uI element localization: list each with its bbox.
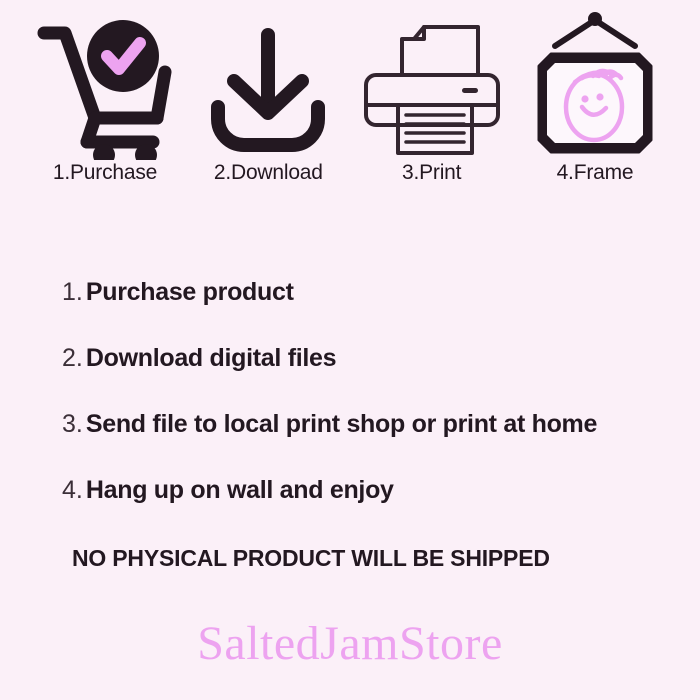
step-download: 2.Download [193, 14, 343, 183]
step-download-label: 2.Download [214, 162, 323, 183]
steps-strip: 1.Purchase 2.Download [0, 14, 700, 194]
list-item-number: 1. [62, 278, 83, 307]
step-frame-label: 4.Frame [557, 162, 634, 183]
frame-wire-left [555, 20, 595, 46]
list-item: 2. Download digital files [62, 344, 682, 410]
list-item-text: Send file to local print shop or print a… [86, 410, 597, 439]
list-item-number: 4. [62, 476, 83, 505]
shopping-cart-check-icon [35, 14, 175, 160]
smiley-eye-right [596, 93, 603, 100]
printer-body [366, 75, 498, 125]
smiley-eye-left [581, 95, 588, 102]
step-purchase-label: 1.Purchase [53, 162, 157, 183]
step-purchase: 1.Purchase [30, 14, 180, 183]
shop-brand-name: SaltedJamStore [0, 620, 700, 668]
list-item: 4. Hang up on wall and enjoy [62, 476, 682, 542]
list-item: 1. Purchase product [62, 278, 682, 344]
list-item: 3. Send file to local print shop or prin… [62, 410, 682, 476]
step-frame: 4.Frame [520, 14, 670, 183]
step-download-icon-wrap [202, 14, 334, 160]
hanging-picture-frame-icon [527, 12, 663, 162]
digital-product-instructions-page: 1.Purchase 2.Download [0, 0, 700, 700]
printer-top-paper [402, 27, 478, 75]
step-print-icon-wrap [362, 14, 502, 160]
list-item-number: 3. [62, 410, 83, 439]
printer-slot-indicator [462, 88, 478, 93]
step-print-label: 3.Print [402, 162, 461, 183]
step-frame-icon-wrap [527, 14, 663, 160]
list-item-text: Purchase product [86, 278, 294, 307]
list-item-text: Download digital files [86, 344, 336, 373]
step-print: 3.Print [357, 14, 507, 183]
no-physical-product-notice: NO PHYSICAL PRODUCT WILL BE SHIPPED [72, 545, 550, 572]
printer-icon [362, 17, 502, 157]
download-arrow-tray-icon [202, 21, 334, 153]
printer-output-paper [398, 105, 472, 153]
list-item-number: 2. [62, 344, 83, 373]
instructions-list: 1. Purchase product 2. Download digital … [62, 278, 682, 542]
frame-nail-icon [588, 12, 602, 26]
frame-wire-right [595, 20, 635, 46]
list-item-text: Hang up on wall and enjoy [86, 476, 394, 505]
step-purchase-icon-wrap [35, 14, 175, 160]
